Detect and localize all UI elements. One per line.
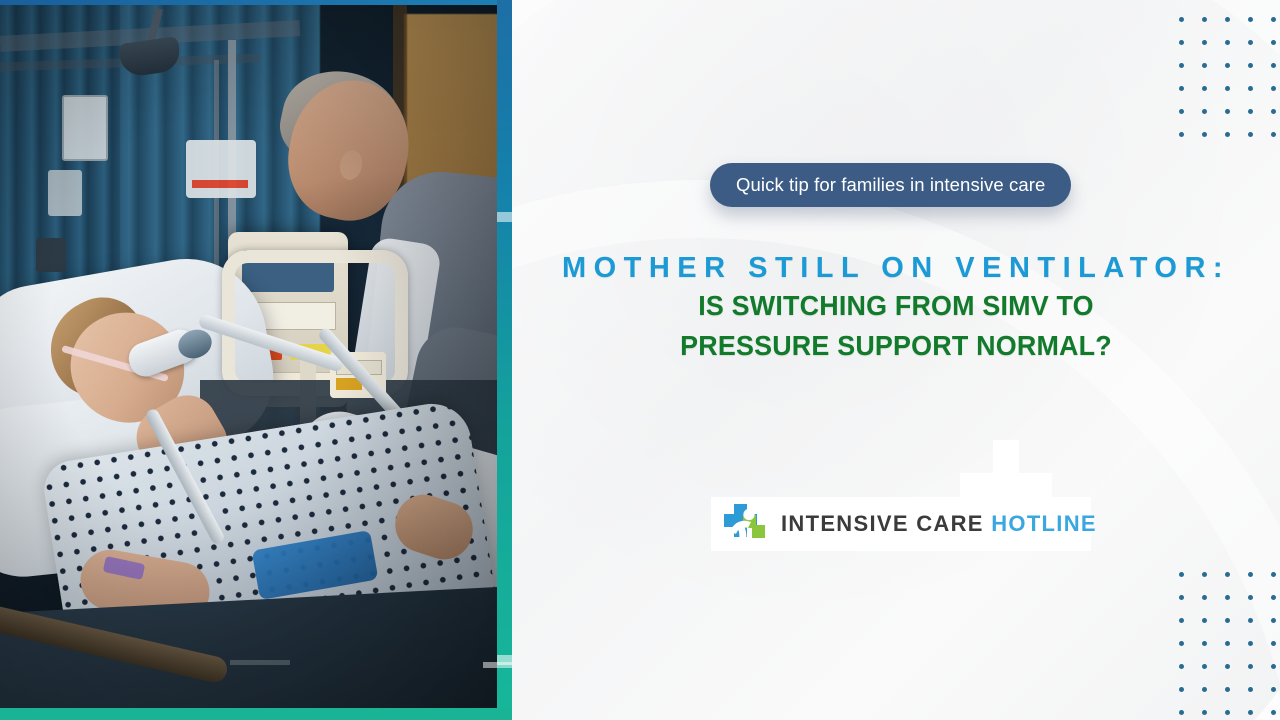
photo-border-top [0, 0, 497, 5]
photo-border-right-gradient [497, 0, 512, 720]
border-notch-corner [483, 662, 512, 668]
page-title: MOTHER STILL ON VENTILATOR: IS SWITCHING… [512, 250, 1280, 366]
photo-border-bottom [0, 708, 512, 720]
medical-cross-person-logo-icon [721, 501, 767, 547]
intensive-care-hotline-logo: INTENSIVE CARE HOTLINE [711, 497, 1091, 551]
photo-bottom-highlight [230, 660, 290, 665]
quick-tip-badge: Quick tip for families in intensive care [710, 163, 1071, 207]
icu-patient-photo [0, 0, 497, 708]
headline-line-3: PRESSURE SUPPORT NORMAL? [527, 326, 1264, 366]
logo-text-accent: HOTLINE [991, 511, 1097, 536]
photo-panel [0, 0, 512, 720]
quick-tip-badge-label: Quick tip for families in intensive care [736, 174, 1045, 196]
logo-wordmark: INTENSIVE CARE HOTLINE [781, 511, 1097, 537]
icu-room-scene [0, 0, 497, 708]
logo-text-primary: INTENSIVE CARE [781, 511, 984, 536]
slide-canvas: Quick tip for families in intensive care… [0, 0, 1280, 720]
headline-line-1: MOTHER STILL ON VENTILATOR: [512, 250, 1280, 286]
border-notch-upper [497, 212, 512, 222]
photo-vignette [0, 0, 497, 708]
headline-line-2: IS SWITCHING FROM SIMV TO [527, 286, 1264, 326]
